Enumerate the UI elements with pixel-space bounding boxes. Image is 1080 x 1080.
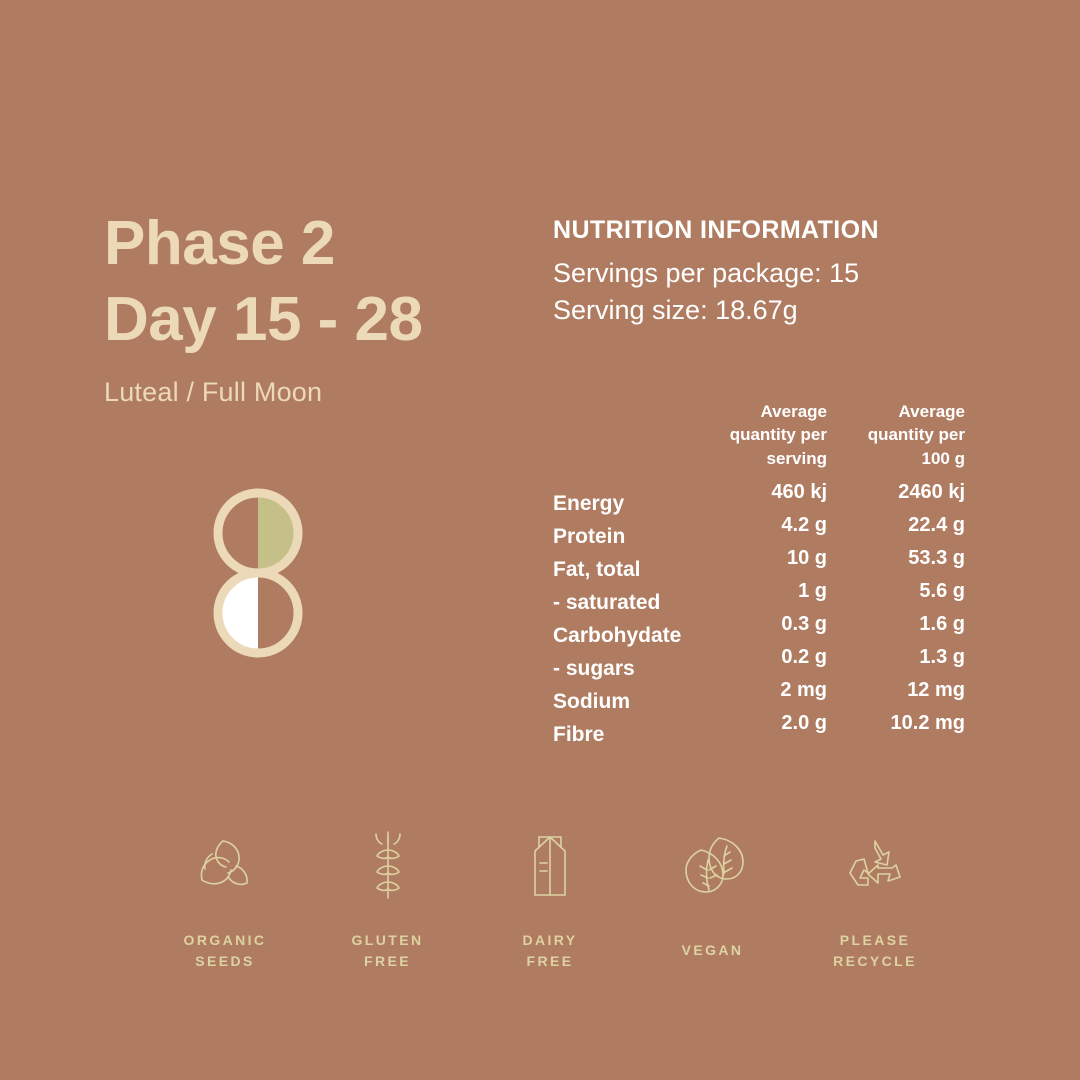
nutrient-value-per-100g: 2460 kj — [845, 481, 965, 504]
carton-icon — [523, 826, 577, 904]
nutrition-heading: NUTRITION INFORMATION — [553, 216, 973, 245]
recycle-icon — [844, 826, 906, 904]
badge-label: GLUTEN FREE — [352, 930, 424, 972]
table-body: Energy460 kj2460 kjProtein4.2 g22.4 gFat… — [553, 492, 965, 756]
seeds-icon — [192, 826, 258, 904]
badge-label: VEGAN — [682, 940, 744, 961]
table-row: Fibre2.0 g10.2 mg — [553, 723, 965, 756]
badge-label: DAIRY FREE — [522, 930, 577, 972]
nutrient-value-per-serving: 10 g — [707, 547, 827, 570]
phase-block: Phase 2 Day 15 - 28 Luteal / Full Moon — [104, 206, 524, 408]
wheat-icon — [358, 826, 418, 904]
nutrient-value-per-100g: 22.4 g — [845, 514, 965, 537]
nutrient-value-per-serving: 2.0 g — [707, 712, 827, 735]
badge-carton: DAIRY FREE — [475, 826, 625, 972]
nutrient-label: Energy — [553, 492, 707, 516]
nutrient-label: - sugars — [553, 657, 707, 681]
column-header-per-serving: Average quantity per serving — [707, 400, 827, 470]
nutrient-label: - saturated — [553, 591, 707, 615]
nutrient-value-per-100g: 53.3 g — [845, 547, 965, 570]
nutrient-label: Fibre — [553, 723, 707, 747]
badge-wheat: GLUTEN FREE — [313, 826, 463, 972]
serving-size: Serving size: 18.67g — [553, 292, 973, 329]
nutrient-value-per-100g: 1.6 g — [845, 613, 965, 636]
nutrition-panel: NUTRITION INFORMATION Servings per packa… — [553, 216, 973, 330]
nutrient-label: Fat, total — [553, 558, 707, 582]
nutrient-label: Carbohydate — [553, 624, 707, 648]
phase-subtitle: Luteal / Full Moon — [104, 377, 524, 408]
nutrient-label: Sodium — [553, 690, 707, 714]
nutrient-value-per-100g: 5.6 g — [845, 580, 965, 603]
badge-leaves: VEGAN — [638, 826, 788, 961]
nutrient-value-per-100g: 1.3 g — [845, 646, 965, 669]
table-column-headers: Average quantity per serving Average qua… — [553, 400, 965, 470]
nutrient-value-per-100g: 12 mg — [845, 679, 965, 702]
badge-recycle: PLEASE RECYCLE — [800, 826, 950, 972]
nutrient-value-per-serving: 4.2 g — [707, 514, 827, 537]
nutrient-value-per-serving: 0.3 g — [707, 613, 827, 636]
nutrient-value-per-serving: 0.2 g — [707, 646, 827, 669]
servings-per-package: Servings per package: 15 — [553, 255, 973, 292]
nutrient-value-per-100g: 10.2 mg — [845, 712, 965, 735]
moon-phase-logo — [212, 487, 304, 664]
badge-label: PLEASE RECYCLE — [833, 930, 917, 972]
nutrient-label: Protein — [553, 525, 707, 549]
nutrient-value-per-serving: 1 g — [707, 580, 827, 603]
badge-label: ORGANIC SEEDS — [184, 930, 267, 972]
column-header-per-100g: Average quantity per 100 g — [845, 400, 965, 470]
nutrient-value-per-serving: 460 kj — [707, 481, 827, 504]
nutrient-value-per-serving: 2 mg — [707, 679, 827, 702]
certification-badges: ORGANIC SEEDS GLUTEN FREE DAIRY FREE — [150, 826, 950, 972]
leaves-icon — [675, 826, 751, 904]
badge-seeds: ORGANIC SEEDS — [150, 826, 300, 972]
nutrition-table: Average quantity per serving Average qua… — [553, 400, 965, 756]
page-title: Phase 2 Day 15 - 28 — [104, 206, 524, 357]
